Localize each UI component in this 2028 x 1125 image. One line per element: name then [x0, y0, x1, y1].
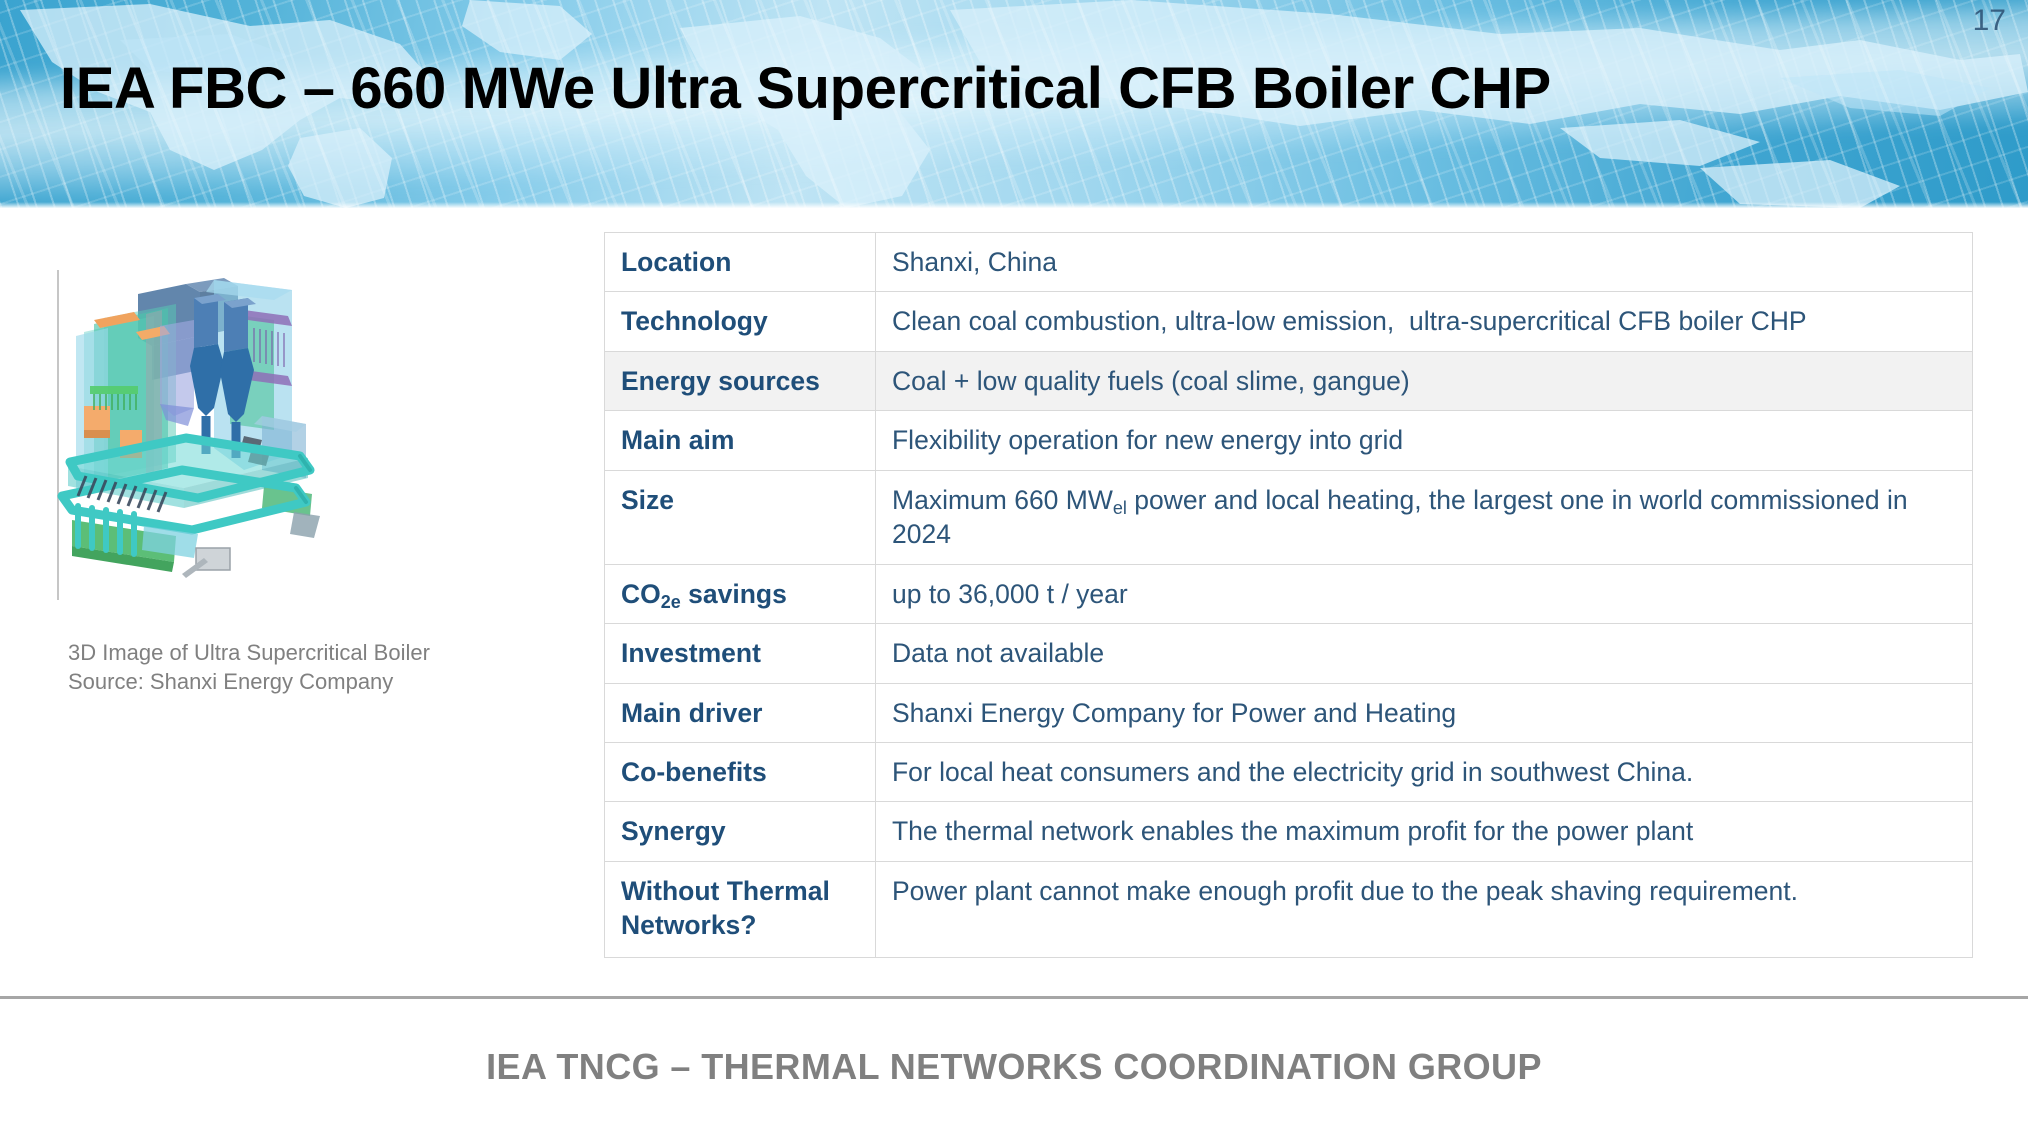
table-row-value: For local heat consumers and the electri…	[876, 742, 1973, 801]
footer-divider	[0, 996, 2028, 999]
table-row-label: Co-benefits	[605, 742, 876, 801]
table-row: Co-benefitsFor local heat consumers and …	[605, 742, 1973, 801]
table-row-label: Energy sources	[605, 351, 876, 410]
table-row-value: Shanxi, China	[876, 233, 1973, 292]
table-row-label: Location	[605, 233, 876, 292]
table-row-value: Clean coal combustion, ultra-low emissio…	[876, 292, 1973, 351]
table-row-label: Technology	[605, 292, 876, 351]
table-row: SizeMaximum 660 MWel power and local hea…	[605, 470, 1973, 564]
table-row: SynergyThe thermal network enables the m…	[605, 802, 1973, 861]
table-row-value: The thermal network enables the maximum …	[876, 802, 1973, 861]
table-row: Without Thermal Networks?Power plant can…	[605, 861, 1973, 957]
table-row-value: Maximum 660 MWel power and local heating…	[876, 470, 1973, 564]
table-row: InvestmentData not available	[605, 624, 1973, 683]
figure-caption-line1: 3D Image of Ultra Supercritical Boiler	[68, 638, 498, 667]
table-row-label: CO2e savings	[605, 564, 876, 623]
table-row: LocationShanxi, China	[605, 233, 1973, 292]
table-row: TechnologyClean coal combustion, ultra-l…	[605, 292, 1973, 351]
spec-table-body: LocationShanxi, ChinaTechnologyClean coa…	[605, 233, 1973, 958]
page-title: IEA FBC – 660 MWe Ultra Supercritical CF…	[60, 60, 1551, 118]
table-row: Energy sourcesCoal + low quality fuels (…	[605, 351, 1973, 410]
table-row: Main driverShanxi Energy Company for Pow…	[605, 683, 1973, 742]
project-spec-table: LocationShanxi, ChinaTechnologyClean coa…	[604, 232, 1973, 958]
slide-number: 17	[1973, 4, 2006, 38]
table-row-value: Flexibility operation for new energy int…	[876, 411, 1973, 470]
table-row-label: Synergy	[605, 802, 876, 861]
footer-text: IEA TNCG – THERMAL NETWORKS COORDINATION…	[0, 1046, 2028, 1088]
table-row-value: up to 36,000 t / year	[876, 564, 1973, 623]
table-row-value: Shanxi Energy Company for Power and Heat…	[876, 683, 1973, 742]
boiler-3d-render-image	[48, 258, 348, 588]
slide-canvas: IEA FBC – 660 MWe Ultra Supercritical CF…	[0, 0, 2028, 1125]
slide-header-banner: IEA FBC – 660 MWe Ultra Supercritical CF…	[0, 0, 2028, 208]
header-bottom-fade	[0, 202, 2028, 208]
table-row-label: Without Thermal Networks?	[605, 861, 876, 957]
table-row: Main aimFlexibility operation for new en…	[605, 411, 1973, 470]
figure-caption-line2: Source: Shanxi Energy Company	[68, 667, 498, 696]
table-row-label: Main driver	[605, 683, 876, 742]
table-row-value: Coal + low quality fuels (coal slime, ga…	[876, 351, 1973, 410]
table-row-value: Power plant cannot make enough profit du…	[876, 861, 1973, 957]
table-row-value: Data not available	[876, 624, 1973, 683]
table-row-label: Size	[605, 470, 876, 564]
table-row: CO2e savingsup to 36,000 t / year	[605, 564, 1973, 623]
table-row-label: Main aim	[605, 411, 876, 470]
table-row-label: Investment	[605, 624, 876, 683]
figure-caption: 3D Image of Ultra Supercritical Boiler S…	[68, 638, 498, 696]
